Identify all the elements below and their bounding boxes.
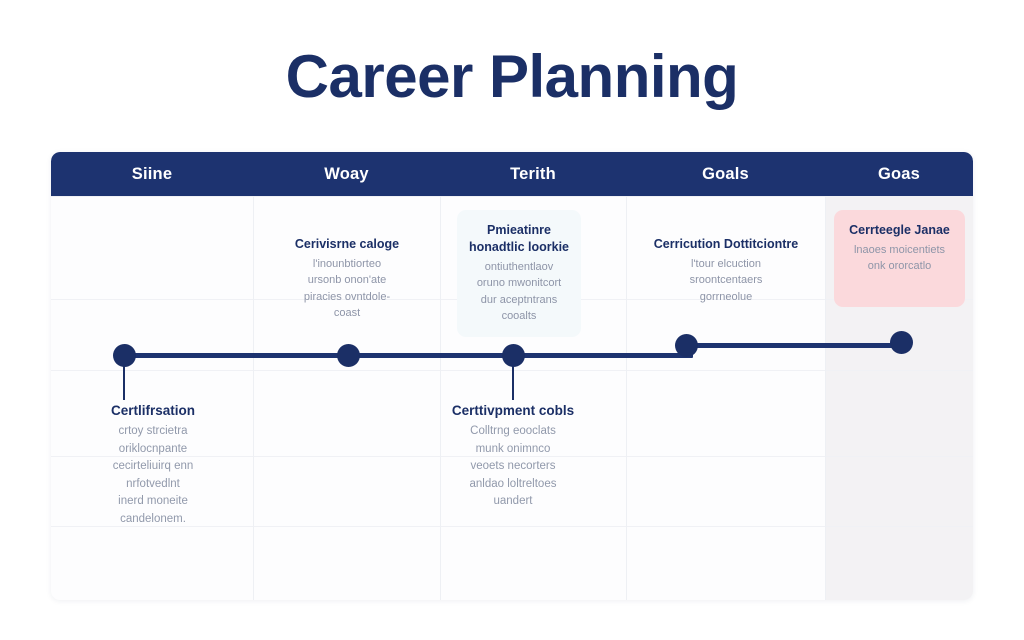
lower-line: candelonem. [65, 511, 241, 528]
lower-block-body: Colltrng eooclats munk onimnco veoets ne… [446, 423, 580, 510]
timeline-segment-4-5 [686, 343, 908, 348]
lower-block-title: Certtivpment cobls [446, 402, 580, 420]
lower-line: oriklocnpante [65, 441, 241, 458]
lower-line: anldao loltreltoes [446, 476, 580, 493]
timeline-segment-3-4 [513, 353, 693, 358]
timeline-segment-2-3 [348, 353, 520, 358]
timeline-stem-1 [123, 366, 125, 400]
lower-line: crtoy strcietra [65, 423, 241, 440]
timeline-dot-3[interactable] [502, 344, 525, 367]
timeline-segment-1-2 [124, 353, 355, 358]
lower-block-body: crtoy strcietra oriklocnpante cecirteliu… [65, 423, 241, 528]
timeline-dot-2[interactable] [337, 344, 360, 367]
timeline-dot-1[interactable] [113, 344, 136, 367]
lower-line: veoets necorters [446, 458, 580, 475]
lower-block-title: Certlifrsation [65, 402, 241, 420]
timeline [51, 152, 973, 600]
lower-line: Colltrng eooclats [446, 423, 580, 440]
timeline-stem-3 [512, 366, 514, 400]
page-title: Career Planning [0, 44, 1024, 110]
lower-line: uandert [446, 493, 580, 510]
lower-block-terith: Certtivpment cobls Colltrng eooclats mun… [446, 402, 580, 511]
timeline-dot-5[interactable] [890, 331, 913, 354]
timeline-dot-4[interactable] [675, 334, 698, 357]
lower-line: munk onimnco [446, 441, 580, 458]
lower-block-siine: Certlifrsation crtoy strcietra oriklocnp… [65, 402, 241, 528]
lower-line: nrfotvedlnt [65, 476, 241, 493]
planning-table-card: Siine Woay Terith Goals Goas Cerivisrne … [51, 152, 973, 600]
lower-line: cecirteliuirq enn [65, 458, 241, 475]
lower-line: inerd moneite [65, 493, 241, 510]
